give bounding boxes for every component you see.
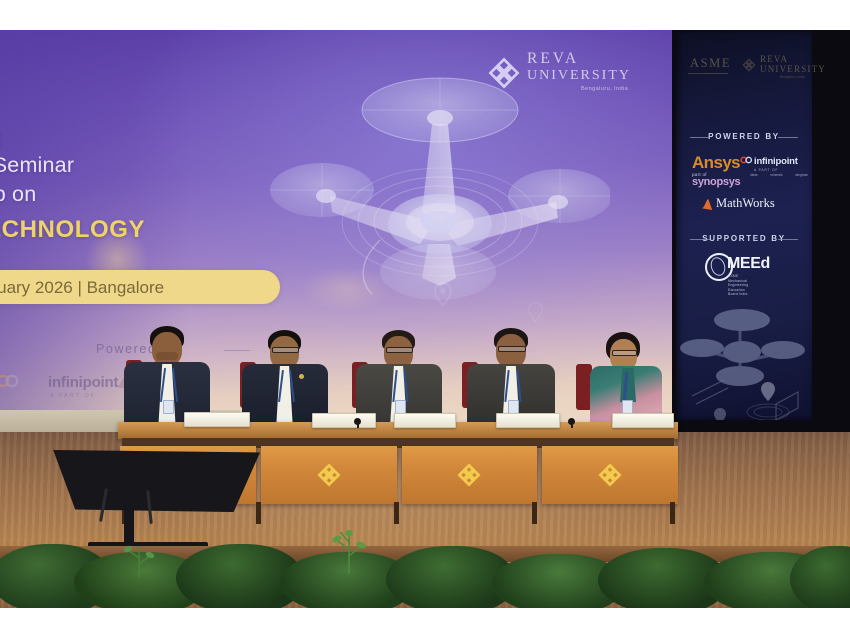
nameplate-2: [312, 413, 376, 428]
infinipoint-col-2: minerals: [770, 173, 782, 177]
screen-reva-name1: REVA: [527, 51, 579, 67]
panelist-1-badge: [163, 400, 174, 414]
banner-synopsys-name: synopsys: [692, 176, 740, 188]
panelist-5-badge: [622, 400, 633, 414]
headline-line-3: orkshop on: [0, 180, 258, 209]
asme-logo: ASME: [690, 56, 731, 71]
banner-reva-name: REVA UNIVERSITY: [760, 55, 826, 74]
panelist-5-glasses: [612, 350, 637, 356]
banner-top-logos: ASME REVA UNIVERSITY Bengaluru, India: [676, 56, 812, 82]
banner-infinipoint-logo: infinipoint A PART OF: [754, 156, 798, 172]
table-panel: [542, 446, 678, 504]
table-leg: [670, 502, 675, 524]
reva-knot-emblem: [457, 463, 481, 487]
banner-supported-by-label: SUPPORTED BY: [676, 234, 812, 243]
infinipoint-col-1: ideas: [750, 173, 758, 177]
foreground-foliage: [0, 522, 850, 608]
banner-ansys-name: Ansys: [692, 154, 740, 171]
banner-infinipoint-sub: A PART OF: [754, 168, 798, 172]
banner-reva-location: Bengaluru, India: [780, 75, 805, 79]
panelist-2-glasses: [272, 347, 299, 353]
infinipoint-icon: [0, 374, 20, 388]
table-leg: [394, 502, 399, 524]
meed-name: MEEd: [727, 255, 770, 273]
nameplate-1: [184, 412, 250, 427]
headline-line-2: cation Seminar: [0, 151, 258, 180]
table-leg: [532, 502, 537, 524]
banner-powered-by-label: POWERED BY: [676, 132, 812, 141]
microphone-stem-2: [571, 422, 573, 428]
banner-mathworks-logo: MathWorks: [716, 196, 775, 211]
reva-knot-emblem: [598, 463, 622, 487]
panelist-4-badge: [508, 400, 519, 414]
meed-subtitle: ASME Mechanical Engineering Education Bo…: [728, 274, 748, 297]
screenshot-root: ? REVA UNIVERSITY Bengaluru, India: [0, 0, 850, 638]
plant-sprig-2: [122, 538, 156, 578]
panelist-4-glasses: [498, 346, 526, 352]
infinipoint-col-3: wingman: [795, 173, 808, 177]
nameplate-4: [496, 413, 560, 428]
reva-knot-emblem: [317, 463, 341, 487]
date-location-pill: bruary 2026 | Bangalore: [0, 270, 280, 304]
screen-infinipoint-sub: A PART OF: [50, 393, 96, 399]
banner-infinipoint-icon: [740, 156, 753, 164]
screen-infinipoint-logo: infinipoint: [48, 374, 118, 391]
table-panel: [402, 446, 538, 504]
banner-mathworks-icon: [702, 198, 713, 211]
projection-screen: ? REVA UNIVERSITY Bengaluru, India: [0, 30, 672, 432]
panelist-1-head: [152, 332, 182, 366]
panelist-1-moustache: [156, 352, 178, 360]
drone-illustration: [270, 72, 610, 322]
headline-line-1: neering: [0, 122, 258, 151]
date-location-text: bruary 2026 | Bangalore: [0, 278, 164, 298]
microphone-stem: [357, 422, 359, 428]
banner-supported-by-text: SUPPORTED BY: [702, 234, 786, 243]
nameplate-3: [394, 413, 456, 428]
table-panel: [261, 446, 397, 504]
banner-infinipoint-columns: ideas minerals wingman: [750, 173, 808, 177]
banner-drone-illustration: [680, 304, 810, 420]
panelist-3-badge: [395, 400, 406, 414]
panelist-3-glasses: [386, 347, 413, 353]
banner-ansys-logo: Ansys part of synopsys: [692, 154, 740, 188]
sponsor-banner: ASME REVA UNIVERSITY Bengaluru, India PO…: [676, 30, 812, 420]
reva-knot-icon-banner: [742, 58, 756, 72]
banner-powered-by-text: POWERED BY: [708, 132, 780, 141]
event-photograph: ? REVA UNIVERSITY Bengaluru, India: [0, 30, 850, 608]
nameplate-5: [612, 413, 674, 428]
headline-accent: NE TECHNOLOGY: [0, 213, 258, 247]
plant-sprig: [330, 528, 368, 574]
panelist-2-lapel-pin: [299, 374, 304, 379]
asme-rule: [688, 73, 728, 74]
screen-headline-block: neering cation Seminar orkshop on NE TEC…: [0, 122, 258, 247]
banner-infinipoint-name: infinipoint: [754, 156, 798, 167]
